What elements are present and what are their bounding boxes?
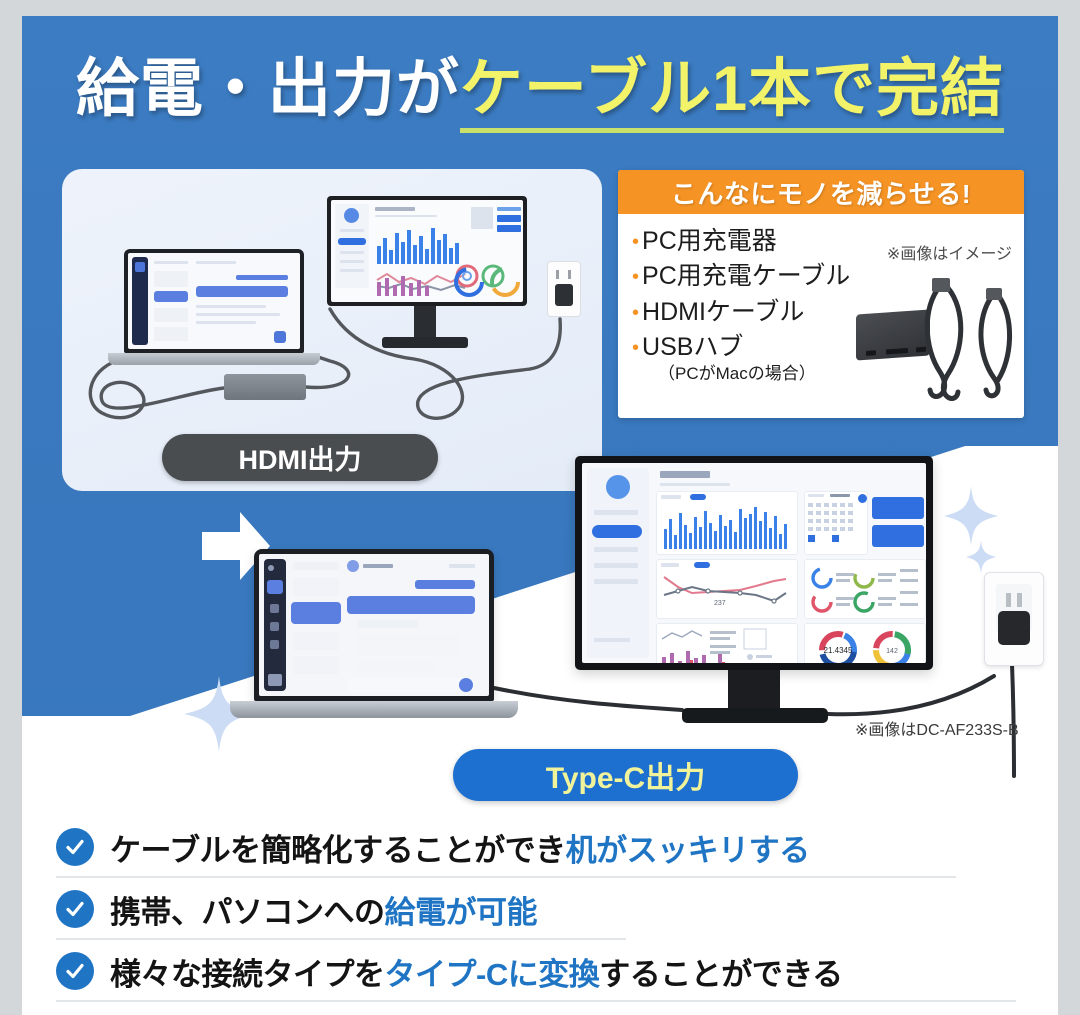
headline-yellow-text: ケーブル1本で完結 — [460, 54, 1004, 133]
reduce-items-list: • PC用充電器 • PC用充電ケーブル • HDMIケーブル • USBハブ … — [632, 228, 852, 393]
bullet-dot-icon: • — [632, 232, 639, 252]
headline-white-text: 給電・出力が — [76, 54, 460, 124]
benefit-plain-a: 様々な接続タイプを — [110, 957, 385, 992]
laptop-screen-top — [128, 253, 300, 349]
list-item: 携帯、パソコンへの給電が可能 — [22, 878, 1058, 940]
list-item-label: PC用充電ケーブル — [642, 263, 850, 289]
monitor-base-top — [382, 337, 468, 348]
benefit-plain-b: することができる — [599, 957, 842, 992]
bullet-dot-icon: • — [632, 303, 639, 323]
power-plug-top — [555, 284, 573, 306]
benefit-highlight: 机がスッキリする — [566, 833, 810, 868]
list-item: • PC用充電ケーブル — [632, 263, 852, 289]
monitor-neck-top — [414, 306, 436, 340]
list-item-sublabel: （PCがMacの場合） — [658, 359, 816, 384]
check-circle-icon — [56, 952, 94, 990]
laptop-illustration-top — [124, 249, 304, 353]
benefit-plain-a: ケーブルを簡略化することができ — [110, 833, 566, 868]
check-circle-icon — [56, 828, 94, 866]
bullet-dot-icon: • — [632, 267, 639, 287]
benefit-text: 様々な接続タイプをタイプ-Cに変換することができる — [110, 949, 843, 994]
monitor-screen-top — [331, 200, 523, 302]
page-title: 給電・出力がケーブル1本で完結 — [22, 54, 1058, 125]
bullet-dot-icon: • — [632, 338, 639, 358]
gauge-secondary-label: 142 — [886, 648, 898, 655]
list-item: • HDMIケーブル — [632, 299, 852, 325]
list-item: 様々な接続タイプをタイプ-Cに変換することができる — [22, 940, 1058, 1002]
benefit-text: 携帯、パソコンへの給電が可能 — [110, 887, 537, 932]
benefit-text: ケーブルを簡略化することができ机がスッキリする — [110, 825, 810, 870]
check-circle-icon — [56, 890, 94, 928]
list-item: • PC用充電器 — [632, 228, 852, 254]
benefit-highlight: タイプ-Cに変換 — [385, 957, 600, 992]
chat-app-screen — [259, 554, 489, 696]
sparkle-icon — [944, 486, 998, 546]
monitor-base-bottom — [682, 708, 828, 723]
gauge-value-label: 21.4345 — [824, 646, 853, 655]
benefit-highlight: 給電が可能 — [385, 895, 538, 930]
line-chart-value: 237 — [714, 600, 726, 607]
sparkle-icon — [966, 540, 996, 574]
reduce-items-box: こんなにモノを減らせる! • PC用充電器 • PC用充電ケーブル • HDMI… — [618, 170, 1024, 418]
benefits-list: ケーブルを簡略化することができ机がスッキリする 携帯、パソコンへの給電が可能 様… — [22, 816, 1058, 1002]
laptop-base-top — [108, 353, 320, 365]
list-item: • USBハブ （PCがMacの場合） — [632, 334, 852, 384]
reduce-items-header: こんなにモノを減らせる! — [618, 170, 1024, 214]
monitor-illustration-bottom: 237 — [575, 456, 933, 670]
poster-root: 給電・出力がケーブル1本で完結 — [22, 16, 1058, 1015]
benefit-plain-a: 携帯、パソコンへの — [110, 895, 385, 930]
laptop-base-bottom — [230, 701, 518, 718]
laptop-illustration-bottom — [254, 549, 494, 701]
monitor-neck-bottom — [728, 670, 780, 712]
reduce-items-body: • PC用充電器 • PC用充電ケーブル • HDMIケーブル • USBハブ … — [618, 214, 1024, 418]
dock-adapter-illustration — [224, 374, 306, 400]
cable-product-photos — [918, 274, 1018, 414]
power-plug-bottom — [998, 611, 1030, 645]
wall-outlet-top — [547, 261, 581, 317]
model-disclaimer-note: ※画像はDC-AF233S-B — [855, 716, 1019, 740]
image-disclaimer-note: ※画像はイメージ — [887, 240, 1012, 264]
hdmi-output-label: HDMI出力 — [162, 434, 438, 481]
list-item-label: USBハブ — [642, 334, 816, 360]
monitor-illustration-top — [327, 196, 527, 306]
wall-outlet-bottom — [984, 572, 1044, 666]
dashboard-screen: 237 — [582, 463, 926, 663]
list-item: ケーブルを簡略化することができ机がスッキリする — [22, 816, 1058, 878]
typec-output-label: Type-C出力 — [453, 749, 798, 801]
list-item-label: HDMIケーブル — [642, 299, 804, 325]
list-item-label: PC用充電器 — [642, 228, 777, 254]
